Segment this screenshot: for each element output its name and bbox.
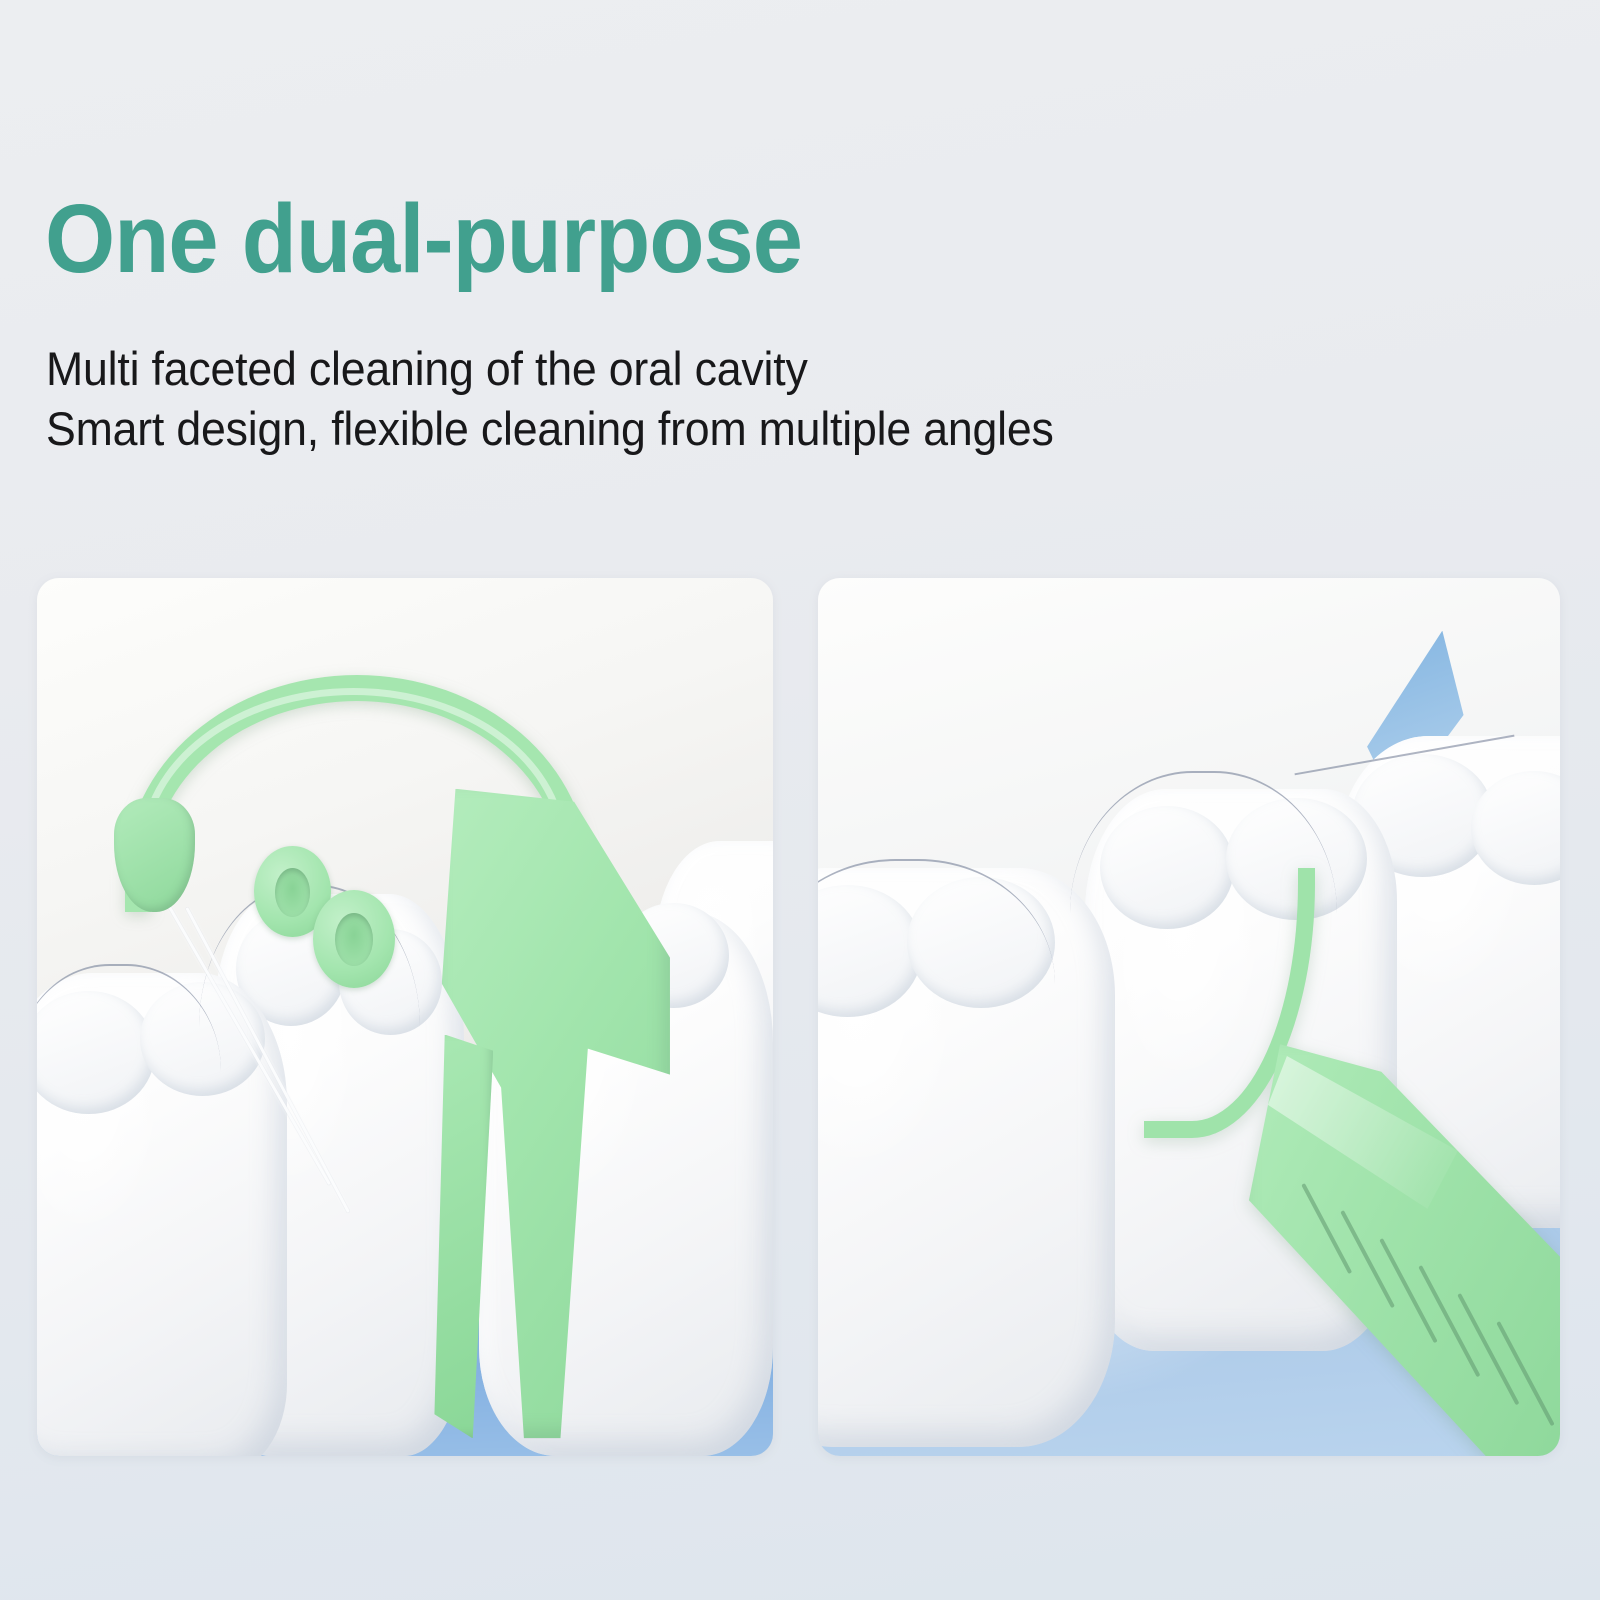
interdental-pick-illustration [818,578,1560,1456]
product-feature-page: One dual-purpose Multi faceted cleaning … [0,0,1600,1600]
interdental-pick-panel [818,578,1560,1456]
floss-pick-illustration [37,578,773,1456]
pick-ridge [1302,1183,1353,1274]
page-headline: One dual-purpose [45,190,802,287]
thumb-grip-boss [313,890,395,988]
interdental-pick [1144,868,1560,1456]
subtitle-line-1: Multi faceted cleaning of the oral cavit… [46,345,808,392]
subtitle-line-2: Smart design, flexible cleaning from mul… [46,405,1054,452]
floss-pick-panel [37,578,773,1456]
pick-ridge [1341,1210,1396,1308]
pick-ridge [1496,1321,1554,1426]
pick-ridge [1380,1238,1438,1343]
